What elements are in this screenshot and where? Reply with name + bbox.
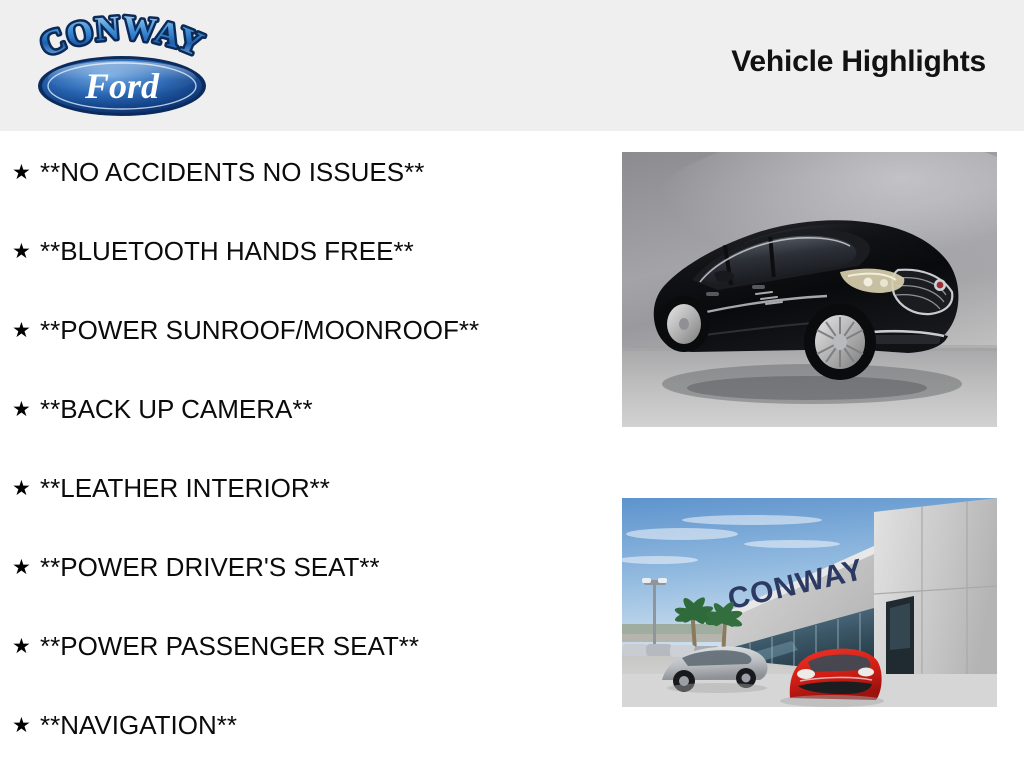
dealership-photo[interactable]: CONWAY [622,498,997,707]
list-item: ★ **POWER DRIVER'S SEAT** [12,550,380,584]
list-item-label: **NO ACCIDENTS NO ISSUES** [40,159,424,185]
list-item-label: **POWER PASSENGER SEAT** [40,633,419,659]
star-icon: ★ [12,478,40,499]
list-item: ★ **POWER SUNROOF/MOONROOF** [12,313,479,347]
conway-ford-logo: CONWAY CONWAY Ford [22,10,222,120]
star-icon: ★ [12,715,40,736]
list-item-label: **NAVIGATION** [40,712,237,738]
star-icon: ★ [12,162,40,183]
star-icon: ★ [12,557,40,578]
list-item: ★ **BACK UP CAMERA** [12,392,313,426]
vehicle-highlights-page: CONWAY CONWAY Ford Vehicle Highlights [0,0,1024,768]
star-icon: ★ [12,399,40,420]
vehicle-photo[interactable] [622,152,997,427]
vehicle-highlights-list: ★ **NO ACCIDENTS NO ISSUES** ★ **BLUETOO… [0,131,600,768]
svg-text:Ford: Ford [84,66,160,106]
list-item-label: **POWER DRIVER'S SEAT** [40,554,380,580]
list-item: ★ **LEATHER INTERIOR** [12,471,330,505]
star-icon: ★ [12,320,40,341]
star-icon: ★ [12,636,40,657]
list-item: ★ **POWER PASSENGER SEAT** [12,629,419,663]
page-title: Vehicle Highlights [731,45,986,79]
list-item: ★ **BLUETOOTH HANDS FREE** [12,234,414,268]
list-item-label: **LEATHER INTERIOR** [40,475,330,501]
list-item-label: **BACK UP CAMERA** [40,396,313,422]
list-item-label: **POWER SUNROOF/MOONROOF** [40,317,479,343]
rear-wheel [658,296,710,352]
list-item-label: **BLUETOOTH HANDS FREE** [40,238,414,264]
page-header: CONWAY CONWAY Ford Vehicle Highlights [0,0,1024,131]
front-wheel [804,304,876,380]
list-item: ★ **NAVIGATION** [12,708,237,742]
list-item: ★ **NO ACCIDENTS NO ISSUES** [12,155,424,189]
logo-ford-oval: Ford [38,56,206,116]
star-icon: ★ [12,241,40,262]
